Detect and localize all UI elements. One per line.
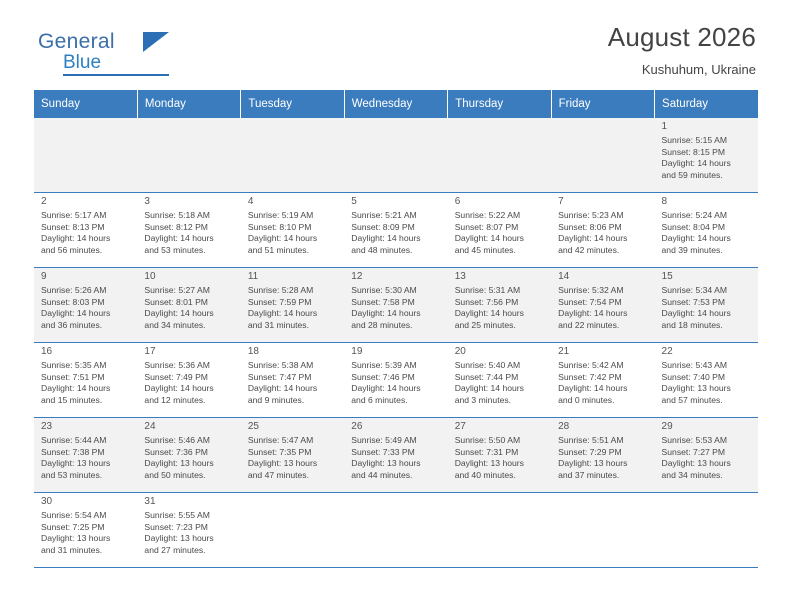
day-detail-line: Sunrise: 5:43 AM: [662, 360, 754, 371]
calendar-day-cell[interactable]: 25Sunrise: 5:47 AMSunset: 7:35 PMDayligh…: [241, 418, 344, 493]
calendar-body: 1Sunrise: 5:15 AMSunset: 8:15 PMDaylight…: [34, 118, 758, 568]
calendar-day-cell[interactable]: 8Sunrise: 5:24 AMSunset: 8:04 PMDaylight…: [655, 193, 758, 268]
day-detail-line: Sunrise: 5:32 AM: [558, 285, 650, 296]
calendar-cell-empty: [344, 493, 447, 568]
general-blue-logo[interactable]: General Blue: [38, 30, 208, 76]
day-detail-line: Daylight: 14 hours: [455, 308, 547, 319]
day-detail-line: Daylight: 13 hours: [455, 458, 547, 469]
calendar-page: General Blue August 2026 Kushuhum, Ukrai…: [0, 0, 792, 612]
day-number: 6: [455, 196, 547, 207]
day-number: 4: [248, 196, 340, 207]
day-detail-line: Sunset: 8:03 PM: [41, 297, 133, 308]
weekday-header-wednesday: Wednesday: [344, 90, 447, 118]
day-detail-line: and 44 minutes.: [351, 470, 443, 481]
day-detail-line: Sunrise: 5:40 AM: [455, 360, 547, 371]
day-detail-line: Sunset: 7:33 PM: [351, 447, 443, 458]
logo-text-blue: Blue: [63, 52, 101, 74]
day-number: 9: [41, 271, 133, 282]
calendar-day-cell[interactable]: 14Sunrise: 5:32 AMSunset: 7:54 PMDayligh…: [551, 268, 654, 343]
calendar-day-cell[interactable]: 24Sunrise: 5:46 AMSunset: 7:36 PMDayligh…: [137, 418, 240, 493]
day-detail-line: Sunrise: 5:50 AM: [455, 435, 547, 446]
location-subtitle: Kushuhum, Ukraine: [608, 62, 756, 77]
calendar-week-row: 23Sunrise: 5:44 AMSunset: 7:38 PMDayligh…: [34, 418, 758, 493]
day-detail-line: and 12 minutes.: [144, 395, 236, 406]
day-detail-line: Sunrise: 5:26 AM: [41, 285, 133, 296]
day-detail-line: Daylight: 14 hours: [351, 233, 443, 244]
calendar-day-cell[interactable]: 4Sunrise: 5:19 AMSunset: 8:10 PMDaylight…: [241, 193, 344, 268]
calendar-day-cell[interactable]: 28Sunrise: 5:51 AMSunset: 7:29 PMDayligh…: [551, 418, 654, 493]
logo-underline: [63, 74, 169, 76]
day-detail-line: Sunrise: 5:18 AM: [144, 210, 236, 221]
day-detail-line: and 34 minutes.: [144, 320, 236, 331]
day-detail-line: Daylight: 14 hours: [351, 383, 443, 394]
day-detail-line: Daylight: 14 hours: [41, 308, 133, 319]
calendar-cell-empty: [241, 493, 344, 568]
calendar-day-cell[interactable]: 21Sunrise: 5:42 AMSunset: 7:42 PMDayligh…: [551, 343, 654, 418]
calendar-day-cell[interactable]: 9Sunrise: 5:26 AMSunset: 8:03 PMDaylight…: [34, 268, 137, 343]
day-detail-line: Sunrise: 5:21 AM: [351, 210, 443, 221]
calendar-week-row: 16Sunrise: 5:35 AMSunset: 7:51 PMDayligh…: [34, 343, 758, 418]
day-detail-line: Sunrise: 5:44 AM: [41, 435, 133, 446]
day-detail-line: Daylight: 13 hours: [144, 533, 236, 544]
calendar-day-cell[interactable]: 29Sunrise: 5:53 AMSunset: 7:27 PMDayligh…: [655, 418, 758, 493]
logo-text-general: General: [38, 30, 115, 53]
day-detail-line: and 18 minutes.: [662, 320, 754, 331]
day-detail-line: and 36 minutes.: [41, 320, 133, 331]
day-detail-line: Sunset: 7:44 PM: [455, 372, 547, 383]
day-detail-line: Sunset: 8:10 PM: [248, 222, 340, 233]
calendar-day-cell[interactable]: 11Sunrise: 5:28 AMSunset: 7:59 PMDayligh…: [241, 268, 344, 343]
calendar-week-row: 1Sunrise: 5:15 AMSunset: 8:15 PMDaylight…: [34, 118, 758, 193]
day-detail-line: Sunset: 8:09 PM: [351, 222, 443, 233]
day-detail-line: Sunrise: 5:31 AM: [455, 285, 547, 296]
calendar-day-cell[interactable]: 20Sunrise: 5:40 AMSunset: 7:44 PMDayligh…: [448, 343, 551, 418]
calendar-day-cell[interactable]: 12Sunrise: 5:30 AMSunset: 7:58 PMDayligh…: [344, 268, 447, 343]
day-detail-line: Sunrise: 5:17 AM: [41, 210, 133, 221]
calendar-day-cell[interactable]: 1Sunrise: 5:15 AMSunset: 8:15 PMDaylight…: [655, 118, 758, 193]
day-number: 24: [144, 421, 236, 432]
day-detail-line: Daylight: 14 hours: [144, 308, 236, 319]
day-detail-line: Daylight: 14 hours: [41, 383, 133, 394]
day-detail-line: Daylight: 14 hours: [351, 308, 443, 319]
day-detail-line: Daylight: 14 hours: [558, 383, 650, 394]
calendar-week-row: 30Sunrise: 5:54 AMSunset: 7:25 PMDayligh…: [34, 493, 758, 568]
day-detail-line: Daylight: 14 hours: [248, 383, 340, 394]
day-detail-line: Sunset: 7:38 PM: [41, 447, 133, 458]
day-detail-line: Sunset: 7:27 PM: [662, 447, 754, 458]
day-detail-line: Daylight: 13 hours: [351, 458, 443, 469]
day-detail-line: Daylight: 14 hours: [41, 233, 133, 244]
day-detail-line: Sunset: 7:47 PM: [248, 372, 340, 383]
day-number: 21: [558, 346, 650, 357]
calendar-cell-empty: [448, 493, 551, 568]
day-detail-line: Sunset: 8:07 PM: [455, 222, 547, 233]
day-detail-line: Daylight: 13 hours: [558, 458, 650, 469]
calendar-cell-empty: [34, 118, 137, 193]
day-detail-line: Sunset: 7:25 PM: [41, 522, 133, 533]
calendar-week-row: 9Sunrise: 5:26 AMSunset: 8:03 PMDaylight…: [34, 268, 758, 343]
day-detail-line: and 39 minutes.: [662, 245, 754, 256]
day-detail-line: and 40 minutes.: [455, 470, 547, 481]
calendar-day-cell[interactable]: 2Sunrise: 5:17 AMSunset: 8:13 PMDaylight…: [34, 193, 137, 268]
day-detail-line: Sunset: 7:31 PM: [455, 447, 547, 458]
day-number: 8: [662, 196, 754, 207]
day-detail-line: Sunrise: 5:23 AM: [558, 210, 650, 221]
day-detail-line: Sunrise: 5:49 AM: [351, 435, 443, 446]
day-detail-line: Sunset: 7:54 PM: [558, 297, 650, 308]
day-detail-line: and 0 minutes.: [558, 395, 650, 406]
calendar-day-cell[interactable]: 15Sunrise: 5:34 AMSunset: 7:53 PMDayligh…: [655, 268, 758, 343]
day-detail-line: and 3 minutes.: [455, 395, 547, 406]
day-detail-line: and 45 minutes.: [455, 245, 547, 256]
day-number: 29: [662, 421, 754, 432]
day-detail-line: Sunset: 7:46 PM: [351, 372, 443, 383]
day-detail-line: Sunrise: 5:39 AM: [351, 360, 443, 371]
day-detail-line: Daylight: 14 hours: [248, 233, 340, 244]
calendar-day-cell[interactable]: 18Sunrise: 5:38 AMSunset: 7:47 PMDayligh…: [241, 343, 344, 418]
day-detail-line: and 51 minutes.: [248, 245, 340, 256]
day-detail-line: Sunrise: 5:28 AM: [248, 285, 340, 296]
day-detail-line: Sunset: 7:35 PM: [248, 447, 340, 458]
weekday-header-thursday: Thursday: [448, 90, 551, 118]
page-header: General Blue August 2026 Kushuhum, Ukrai…: [34, 0, 758, 70]
day-number: 17: [144, 346, 236, 357]
day-detail-line: Daylight: 14 hours: [662, 158, 754, 169]
day-detail-line: Sunrise: 5:54 AM: [41, 510, 133, 521]
calendar-cell-empty: [344, 118, 447, 193]
calendar-day-cell[interactable]: 6Sunrise: 5:22 AMSunset: 8:07 PMDaylight…: [448, 193, 551, 268]
weekday-header-friday: Friday: [551, 90, 654, 118]
day-detail-line: and 31 minutes.: [248, 320, 340, 331]
day-detail-line: Sunset: 7:53 PM: [662, 297, 754, 308]
calendar-day-cell[interactable]: 26Sunrise: 5:49 AMSunset: 7:33 PMDayligh…: [344, 418, 447, 493]
day-number: 28: [558, 421, 650, 432]
day-detail-line: Sunrise: 5:27 AM: [144, 285, 236, 296]
day-number: 19: [351, 346, 443, 357]
day-detail-line: Sunset: 8:15 PM: [662, 147, 754, 158]
day-detail-line: Daylight: 14 hours: [144, 233, 236, 244]
day-detail-line: Sunset: 7:23 PM: [144, 522, 236, 533]
calendar-day-cell[interactable]: 22Sunrise: 5:43 AMSunset: 7:40 PMDayligh…: [655, 343, 758, 418]
day-number: 3: [144, 196, 236, 207]
day-detail-line: Sunrise: 5:51 AM: [558, 435, 650, 446]
day-detail-line: Sunset: 8:06 PM: [558, 222, 650, 233]
day-detail-line: and 15 minutes.: [41, 395, 133, 406]
day-detail-line: Sunrise: 5:47 AM: [248, 435, 340, 446]
day-detail-line: Daylight: 14 hours: [144, 383, 236, 394]
day-number: 23: [41, 421, 133, 432]
day-detail-line: Sunset: 8:12 PM: [144, 222, 236, 233]
calendar-day-cell[interactable]: 16Sunrise: 5:35 AMSunset: 7:51 PMDayligh…: [34, 343, 137, 418]
day-detail-line: and 31 minutes.: [41, 545, 133, 556]
weekday-header-tuesday: Tuesday: [241, 90, 344, 118]
day-number: 2: [41, 196, 133, 207]
day-detail-line: Sunrise: 5:38 AM: [248, 360, 340, 371]
day-number: 31: [144, 496, 236, 507]
calendar-day-cell[interactable]: 27Sunrise: 5:50 AMSunset: 7:31 PMDayligh…: [448, 418, 551, 493]
day-detail-line: Daylight: 14 hours: [558, 308, 650, 319]
day-detail-line: Daylight: 13 hours: [662, 458, 754, 469]
day-number: 26: [351, 421, 443, 432]
day-detail-line: Daylight: 14 hours: [455, 383, 547, 394]
day-detail-line: and 57 minutes.: [662, 395, 754, 406]
day-detail-line: Daylight: 14 hours: [558, 233, 650, 244]
day-detail-line: Sunset: 7:56 PM: [455, 297, 547, 308]
day-number: 30: [41, 496, 133, 507]
day-detail-line: and 47 minutes.: [248, 470, 340, 481]
calendar-day-cell[interactable]: 5Sunrise: 5:21 AMSunset: 8:09 PMDaylight…: [344, 193, 447, 268]
day-number: 12: [351, 271, 443, 282]
day-detail-line: and 53 minutes.: [144, 245, 236, 256]
sun-times-calendar: Sunday Monday Tuesday Wednesday Thursday…: [34, 90, 758, 568]
day-detail-line: Daylight: 14 hours: [248, 308, 340, 319]
day-detail-line: Sunrise: 5:36 AM: [144, 360, 236, 371]
day-detail-line: Sunset: 7:40 PM: [662, 372, 754, 383]
calendar-day-cell[interactable]: 19Sunrise: 5:39 AMSunset: 7:46 PMDayligh…: [344, 343, 447, 418]
weekday-header-sunday: Sunday: [34, 90, 137, 118]
calendar-day-cell[interactable]: 3Sunrise: 5:18 AMSunset: 8:12 PMDaylight…: [137, 193, 240, 268]
day-detail-line: Sunrise: 5:34 AM: [662, 285, 754, 296]
day-detail-line: Daylight: 13 hours: [248, 458, 340, 469]
day-detail-line: Daylight: 13 hours: [41, 533, 133, 544]
page-title: August 2026: [608, 22, 756, 53]
calendar-cell-empty: [241, 118, 344, 193]
day-number: 10: [144, 271, 236, 282]
day-detail-line: Sunrise: 5:42 AM: [558, 360, 650, 371]
day-detail-line: Sunset: 7:58 PM: [351, 297, 443, 308]
calendar-cell-empty: [655, 493, 758, 568]
day-detail-line: Sunrise: 5:46 AM: [144, 435, 236, 446]
day-detail-line: Daylight: 14 hours: [662, 233, 754, 244]
day-detail-line: and 42 minutes.: [558, 245, 650, 256]
day-number: 13: [455, 271, 547, 282]
day-detail-line: Daylight: 13 hours: [144, 458, 236, 469]
calendar-week-row: 2Sunrise: 5:17 AMSunset: 8:13 PMDaylight…: [34, 193, 758, 268]
day-detail-line: Sunset: 8:01 PM: [144, 297, 236, 308]
day-detail-line: Sunset: 7:29 PM: [558, 447, 650, 458]
calendar-day-cell[interactable]: 13Sunrise: 5:31 AMSunset: 7:56 PMDayligh…: [448, 268, 551, 343]
day-detail-line: Sunset: 7:51 PM: [41, 372, 133, 383]
day-detail-line: Sunset: 7:49 PM: [144, 372, 236, 383]
calendar-cell-empty: [448, 118, 551, 193]
day-detail-line: Daylight: 13 hours: [41, 458, 133, 469]
calendar-cell-empty: [551, 118, 654, 193]
day-detail-line: Daylight: 13 hours: [662, 383, 754, 394]
day-detail-line: Sunset: 7:59 PM: [248, 297, 340, 308]
day-detail-line: Daylight: 14 hours: [662, 308, 754, 319]
day-detail-line: and 28 minutes.: [351, 320, 443, 331]
title-block: August 2026 Kushuhum, Ukraine: [608, 22, 756, 77]
day-detail-line: and 27 minutes.: [144, 545, 236, 556]
calendar-day-cell[interactable]: 23Sunrise: 5:44 AMSunset: 7:38 PMDayligh…: [34, 418, 137, 493]
day-number: 14: [558, 271, 650, 282]
day-number: 27: [455, 421, 547, 432]
day-detail-line: Sunrise: 5:22 AM: [455, 210, 547, 221]
day-detail-line: Sunrise: 5:53 AM: [662, 435, 754, 446]
day-detail-line: Sunrise: 5:15 AM: [662, 135, 754, 146]
day-detail-line: Sunset: 7:42 PM: [558, 372, 650, 383]
calendar-day-cell[interactable]: 30Sunrise: 5:54 AMSunset: 7:25 PMDayligh…: [34, 493, 137, 568]
calendar-cell-empty: [137, 118, 240, 193]
day-detail-line: Sunset: 8:13 PM: [41, 222, 133, 233]
day-detail-line: and 59 minutes.: [662, 170, 754, 181]
day-number: 25: [248, 421, 340, 432]
day-number: 18: [248, 346, 340, 357]
calendar-day-cell[interactable]: 17Sunrise: 5:36 AMSunset: 7:49 PMDayligh…: [137, 343, 240, 418]
day-detail-line: and 50 minutes.: [144, 470, 236, 481]
day-detail-line: and 22 minutes.: [558, 320, 650, 331]
day-detail-line: Daylight: 14 hours: [455, 233, 547, 244]
day-number: 22: [662, 346, 754, 357]
day-detail-line: Sunrise: 5:24 AM: [662, 210, 754, 221]
day-detail-line: and 6 minutes.: [351, 395, 443, 406]
weekday-header-monday: Monday: [137, 90, 240, 118]
day-detail-line: Sunset: 7:36 PM: [144, 447, 236, 458]
weekday-header-saturday: Saturday: [655, 90, 758, 118]
day-detail-line: and 53 minutes.: [41, 470, 133, 481]
day-detail-line: and 9 minutes.: [248, 395, 340, 406]
calendar-day-cell[interactable]: 31Sunrise: 5:55 AMSunset: 7:23 PMDayligh…: [137, 493, 240, 568]
day-detail-line: Sunrise: 5:19 AM: [248, 210, 340, 221]
day-number: 15: [662, 271, 754, 282]
day-detail-line: Sunrise: 5:35 AM: [41, 360, 133, 371]
day-detail-line: Sunset: 8:04 PM: [662, 222, 754, 233]
day-number: 11: [248, 271, 340, 282]
day-number: 16: [41, 346, 133, 357]
day-detail-line: Sunrise: 5:30 AM: [351, 285, 443, 296]
day-detail-line: and 25 minutes.: [455, 320, 547, 331]
day-number: 5: [351, 196, 443, 207]
calendar-day-cell[interactable]: 10Sunrise: 5:27 AMSunset: 8:01 PMDayligh…: [137, 268, 240, 343]
logo-triangle-icon: [143, 32, 169, 52]
day-detail-line: and 37 minutes.: [558, 470, 650, 481]
day-number: 20: [455, 346, 547, 357]
day-detail-line: and 34 minutes.: [662, 470, 754, 481]
day-detail-line: and 48 minutes.: [351, 245, 443, 256]
day-detail-line: Sunrise: 5:55 AM: [144, 510, 236, 521]
calendar-cell-empty: [551, 493, 654, 568]
day-number: 7: [558, 196, 650, 207]
calendar-day-cell[interactable]: 7Sunrise: 5:23 AMSunset: 8:06 PMDaylight…: [551, 193, 654, 268]
day-number: 1: [662, 121, 754, 132]
day-detail-line: and 56 minutes.: [41, 245, 133, 256]
weekday-header-row: Sunday Monday Tuesday Wednesday Thursday…: [34, 90, 758, 118]
